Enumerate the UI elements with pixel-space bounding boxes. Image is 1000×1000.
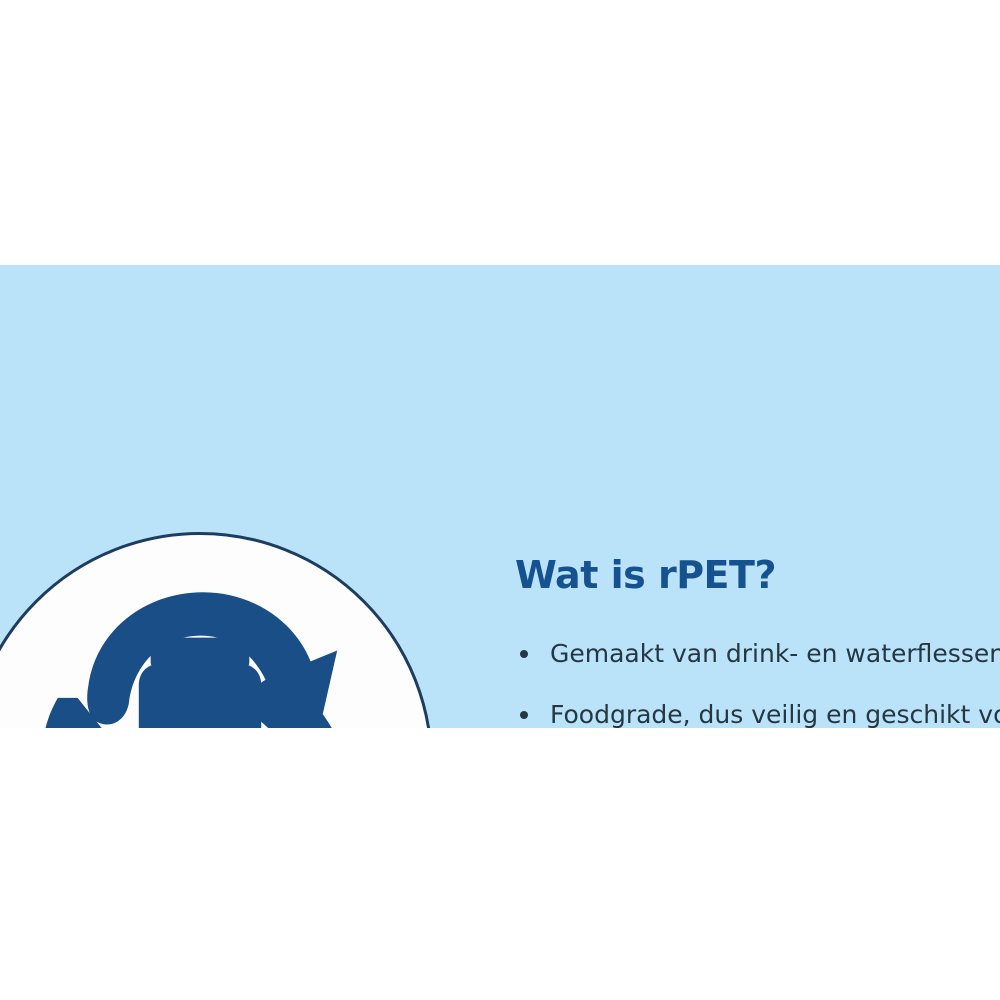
jar-icon xyxy=(139,638,261,728)
bullet-icon xyxy=(520,711,528,719)
banner-background: 100% Wat is rPET? Gemaakt van drink- en … xyxy=(0,265,1000,728)
list-item-line: Gemaakt van drink- en waterflessen xyxy=(550,637,1000,670)
list-item-line: Foodgrade, dus veilig en geschikt voor xyxy=(550,698,1000,728)
text-column: Wat is rPET? Gemaakt van drink- en water… xyxy=(515,555,1000,728)
list-item: Foodgrade, dus veilig en geschikt voor v… xyxy=(515,698,1000,728)
infographic-banner: 100% Wat is rPET? Gemaakt van drink- en … xyxy=(0,0,1000,1000)
recycled-pet-badge: 100% xyxy=(0,532,433,728)
recycle-mark-icon xyxy=(0,535,430,728)
page-title: Wat is rPET? xyxy=(515,555,1000,597)
list-item: Gemaakt van drink- en waterflessen xyxy=(515,637,1000,670)
feature-list: Gemaakt van drink- en waterflessen Foodg… xyxy=(515,637,1000,728)
bullet-icon xyxy=(520,650,528,658)
